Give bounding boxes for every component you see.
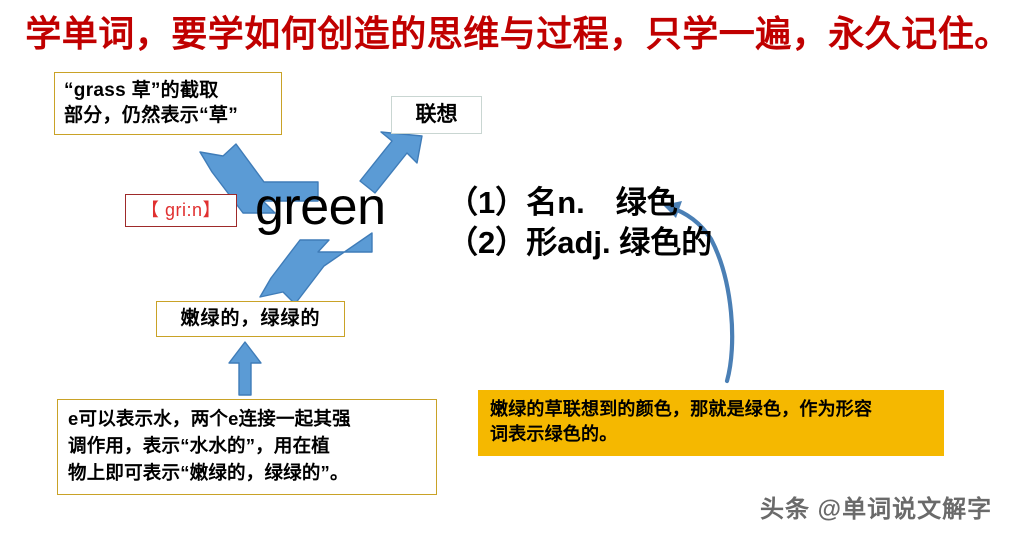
phonetic-transcription: 【 gri:n】 — [125, 194, 237, 227]
note-explanation-line-1: e可以表示水，两个e连接一起其强 — [68, 406, 426, 433]
note-explanation-line-3: 物上即可表示“嫩绿的，绿绿的”。 — [68, 460, 426, 487]
definition-item-1: （1）名n. 绿色 — [447, 183, 712, 223]
note-grass-clip: “grass 草”的截取 部分，仍然表示“草” — [54, 72, 282, 135]
arrow-explain-to-nenlv — [229, 342, 261, 395]
page-title: 学单词，要学如何创造的思维与过程，只学一遍，永久记住。 — [0, 12, 1036, 56]
note-color-association: 嫩绿的草联想到的颜色，那就是绿色，作为形容 词表示绿色的。 — [478, 390, 944, 456]
arrow-green-to-nenlv — [260, 233, 372, 304]
definition-item-2: （2）形adj. 绿色的 — [447, 223, 712, 263]
watermark: 头条 @单词说文解字 — [760, 489, 992, 524]
note-association: 联想 — [391, 96, 482, 134]
headword-green: green — [255, 178, 386, 236]
note-grass-line-1: “grass 草”的截取 — [64, 78, 272, 103]
note-color-line-2: 词表示绿色的。 — [490, 422, 934, 447]
note-color-line-1: 嫩绿的草联想到的颜色，那就是绿色，作为形容 — [490, 397, 934, 422]
note-tender-green: 嫩绿的，绿绿的 — [156, 301, 345, 337]
note-grass-line-2: 部分，仍然表示“草” — [64, 103, 272, 128]
note-etymology-explanation: e可以表示水，两个e连接一起其强 调作用，表示“水水的”，用在植 物上即可表示“… — [57, 399, 437, 495]
note-explanation-line-2: 调作用，表示“水水的”，用在植 — [68, 433, 426, 460]
definition-list: （1）名n. 绿色 （2）形adj. 绿色的 — [447, 183, 712, 263]
slide-canvas: 学单词，要学如何创造的思维与过程，只学一遍，永久记住。 “grass 草”的截取… — [0, 0, 1036, 536]
